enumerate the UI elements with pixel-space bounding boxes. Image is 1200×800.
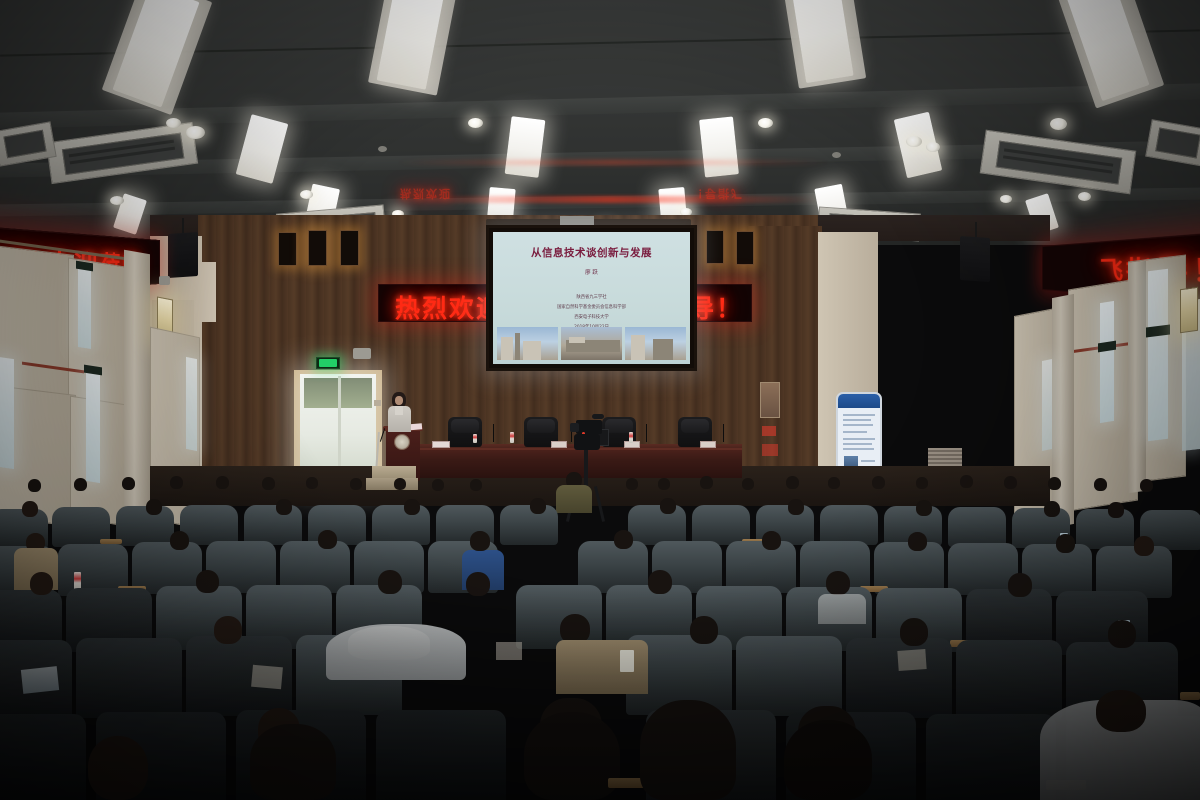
audience-head <box>1008 573 1032 597</box>
hoodie-hood <box>348 626 430 660</box>
slide-affiliation-2: 国家自然科学基金委员会信息科学部 <box>493 304 690 310</box>
audience-head <box>660 498 676 514</box>
audience-head <box>262 477 275 490</box>
university-emblem <box>394 434 410 450</box>
auditorium-seat <box>926 714 1056 800</box>
audience-head <box>250 724 336 800</box>
audience-head <box>1096 690 1146 732</box>
slide-photo-strip <box>497 327 686 360</box>
audience-head <box>196 570 219 593</box>
audience-head <box>828 477 840 489</box>
projection-screen: 从信息技术谈创新与发展 廖 跃 陕西省九三学社 国家自然科学基金委员会信息科学部… <box>486 225 697 371</box>
ceiling-downlight <box>906 136 922 147</box>
audience-head <box>1108 502 1124 518</box>
audience-head <box>1134 536 1154 556</box>
ceiling-downlight <box>1078 192 1091 201</box>
window <box>86 371 100 483</box>
audience-head <box>74 478 87 491</box>
attendee-laptop-screen <box>21 666 59 694</box>
audience-head <box>378 570 402 594</box>
wall-socket-icon <box>374 400 381 406</box>
audience-head <box>22 501 38 517</box>
audience-row <box>0 684 1200 800</box>
audience-head <box>614 530 633 549</box>
poster-text-line <box>843 431 867 433</box>
campus-photo-2 <box>561 327 622 360</box>
camera-lens <box>570 423 579 432</box>
audience-head <box>1056 534 1075 553</box>
ceiling-downlight <box>186 126 205 139</box>
ceiling-downlight <box>926 142 940 152</box>
poster-header <box>838 394 880 408</box>
auditorium-photo: 热烈欢迎 飞指导！ 热烈欢迎 飞指导！ 热烈欢迎莅临 飞指导！ 从信息技术谈创新… <box>0 0 1200 800</box>
window <box>1100 301 1114 423</box>
front-wall-right-wood <box>748 226 822 482</box>
audience-head <box>122 477 135 490</box>
audience-head <box>470 531 490 551</box>
campus-photo-3 <box>625 327 686 360</box>
exit-sign-glyph <box>319 359 337 367</box>
presenter-face <box>395 396 403 405</box>
ceiling-downlight <box>468 118 483 128</box>
audience-head <box>216 476 229 489</box>
audience-head <box>1094 478 1107 491</box>
camera-body-lower <box>574 434 600 450</box>
audience-head <box>530 498 546 514</box>
window <box>78 267 91 349</box>
ceiling-downlight <box>758 118 773 128</box>
audience-head <box>350 478 362 490</box>
speaker-hanger <box>182 218 184 234</box>
head-table-chair <box>448 417 482 447</box>
audience-head <box>306 477 318 489</box>
table-microphone <box>723 424 724 442</box>
slide-affiliation-1: 陕西省九三学社 <box>493 294 690 300</box>
audience-head <box>762 531 781 550</box>
window <box>1148 269 1168 441</box>
fire-extinguisher-cabinet <box>760 382 780 418</box>
ceiling-downlight <box>110 196 124 205</box>
pa-loudspeaker <box>960 236 990 282</box>
poster-text-line <box>843 419 871 421</box>
audience-head <box>900 618 928 646</box>
audience-head <box>826 571 850 595</box>
screen-mount-bracket <box>560 216 594 225</box>
campus-photo-1 <box>497 327 558 360</box>
slide-affiliation-3: 西安电子科技大学 <box>493 314 690 320</box>
smoke-detector-icon <box>378 146 387 152</box>
audience-head <box>318 530 337 549</box>
wall-sign <box>762 444 778 456</box>
water-bottle <box>629 432 633 443</box>
attendee-paper <box>496 642 522 660</box>
window <box>0 357 14 469</box>
ceiling-downlight <box>1050 118 1067 130</box>
ceiling-downlight <box>166 118 181 128</box>
led-reflection <box>398 160 828 165</box>
auditorium-seat <box>376 710 506 800</box>
wall-niche <box>340 230 359 266</box>
camera-handle <box>592 414 604 419</box>
audience-head <box>1048 477 1061 490</box>
table-name-card <box>551 441 567 448</box>
audience-head <box>916 477 928 489</box>
table-microphone <box>493 424 494 442</box>
attendee-paper <box>897 649 926 671</box>
poster-text-line <box>861 460 875 462</box>
audience-head <box>30 572 53 595</box>
ceiling: 热烈欢迎 飞指导！ <box>0 0 1200 245</box>
audience-head <box>658 478 670 490</box>
ceiling-led-reflection-text: 热烈欢迎 <box>400 186 452 202</box>
audience-head <box>690 616 718 644</box>
audience-head <box>626 478 638 490</box>
audience-head <box>908 532 927 551</box>
slide-title: 从信息技术谈创新与发展 <box>493 245 690 260</box>
ceiling-ac-unit <box>980 130 1137 195</box>
presenter <box>386 392 412 432</box>
poster-text-line <box>843 443 872 445</box>
audience-head <box>170 531 189 550</box>
exit-sign <box>316 357 340 369</box>
ceiling-led-reflection-text: 飞指导！ <box>690 186 742 202</box>
audience-head <box>146 499 162 515</box>
emergency-light-icon <box>159 276 170 285</box>
audience-head <box>960 475 973 488</box>
audience-head <box>404 499 420 515</box>
water-bottle <box>473 434 477 443</box>
ceiling-downlight <box>1000 195 1012 203</box>
attendee-long-hair <box>524 712 620 800</box>
attendee-long-hair <box>784 720 872 800</box>
poster-text-line <box>843 414 875 416</box>
audience-head <box>700 476 713 489</box>
attendee-paper <box>251 665 283 690</box>
ceiling-light-panel <box>699 116 739 177</box>
audience-head <box>640 700 736 800</box>
wall-niche <box>706 230 724 264</box>
audience-head <box>432 479 444 491</box>
audience-head <box>786 476 799 489</box>
audience-head <box>1140 479 1153 492</box>
slide-author: 廖 跃 <box>493 268 690 276</box>
video-camera <box>576 420 602 434</box>
audience-head <box>1004 476 1017 489</box>
poster-text-line <box>843 448 874 450</box>
water-bottle <box>510 432 514 443</box>
audience-head <box>742 478 754 490</box>
ceiling-downlight <box>300 190 313 199</box>
audience-head <box>788 499 804 515</box>
ceiling-ac-unit <box>1145 119 1200 167</box>
window <box>1042 359 1052 451</box>
wall-niche <box>308 230 327 266</box>
table-name-card <box>432 441 450 448</box>
audience-head <box>214 616 242 644</box>
audience-head <box>648 570 672 594</box>
wall-niche <box>278 232 297 266</box>
auditorium-seat <box>0 714 86 800</box>
audience-head <box>170 476 183 489</box>
ceiling-light-panel <box>505 116 546 178</box>
audience-head <box>916 500 932 516</box>
audience-head <box>88 736 148 800</box>
poster-text-line <box>843 424 873 426</box>
wall-sconce-light <box>1180 287 1198 334</box>
window <box>186 357 197 451</box>
audience-head <box>466 572 490 596</box>
speaker-hanger <box>975 222 977 238</box>
table-name-card <box>700 441 716 448</box>
ceiling-light-panel <box>236 114 289 184</box>
fire-label <box>762 426 776 436</box>
audience-head <box>28 479 41 492</box>
audience-head <box>872 476 885 489</box>
projected-slide: 从信息技术谈创新与发展 廖 跃 陕西省九三学社 国家自然科学基金委员会信息科学部… <box>493 232 690 364</box>
poster-text-line <box>843 438 875 440</box>
led-reflection <box>400 196 820 203</box>
paper-cup <box>620 650 634 672</box>
audience-head <box>1108 620 1136 648</box>
audience-head <box>470 479 482 491</box>
smoke-detector-icon <box>832 152 841 158</box>
wall-column <box>1128 261 1146 494</box>
table-microphone <box>646 424 647 442</box>
presenter-scarf <box>395 406 403 415</box>
emergency-speaker-icon <box>353 348 371 359</box>
wall-niche <box>736 231 754 265</box>
audience-head <box>1044 501 1060 517</box>
audience-head <box>394 478 406 490</box>
audience-head <box>276 499 292 515</box>
